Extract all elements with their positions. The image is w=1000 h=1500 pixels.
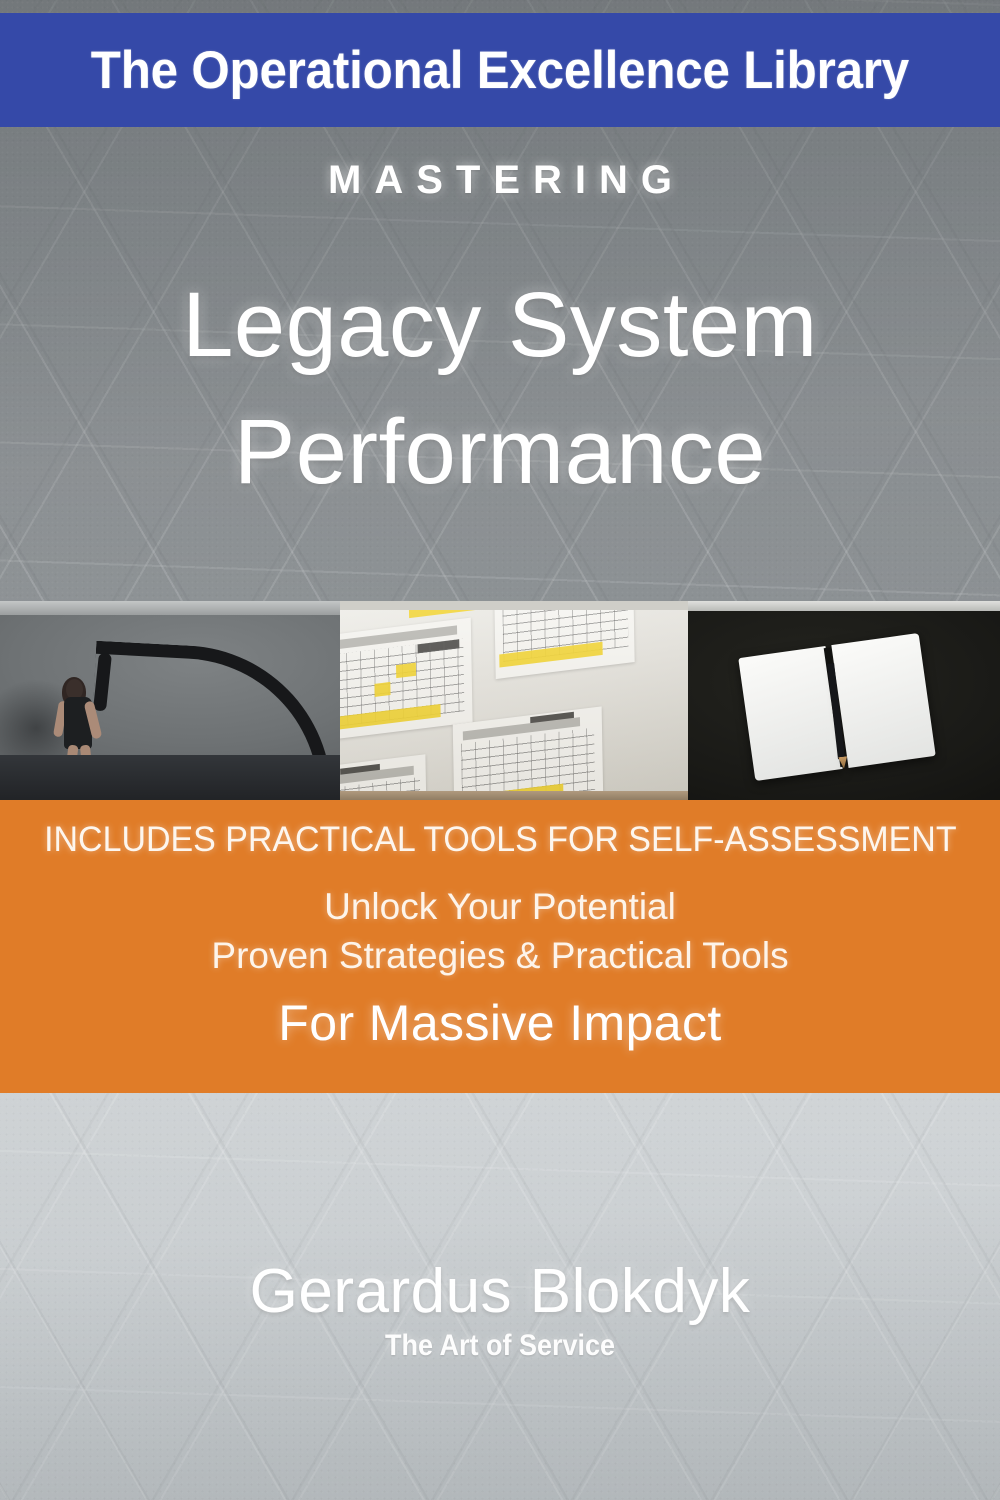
series-banner: The Operational Excellence Library [0, 13, 1000, 127]
publisher-name: The Art of Service [50, 1329, 950, 1363]
page-title: Legacy System Performance [0, 262, 1000, 516]
notebook-right-page [831, 633, 935, 768]
orange-callout-band: INCLUDES PRACTICAL TOOLS FOR SELF-ASSESS… [0, 800, 1000, 1093]
highlighted-schedule-sheets-photo [340, 601, 688, 801]
battle-rope-workout-photo [0, 601, 340, 801]
desk-back-edge [688, 601, 1000, 611]
cover-subtitle: Unlock Your Potential Proven Strategies … [211, 882, 788, 980]
open-notebook-pencil-photo [688, 601, 1000, 801]
self-assessment-callout: INCLUDES PRACTICAL TOOLS FOR SELF-ASSESS… [44, 820, 956, 860]
book-cover: The Operational Excellence Library MASTE… [0, 0, 1000, 1500]
title-line-2: Performance [0, 389, 1000, 516]
cover-kicker: MASTERING [0, 158, 1000, 203]
author-name: Gerardus Blokdyk [0, 1256, 1000, 1327]
gym-floor [0, 755, 340, 801]
photo-top-edge [340, 601, 688, 610]
impact-tagline: For Massive Impact [278, 994, 721, 1052]
subtitle-line-2: Proven Strategies & Practical Tools [211, 931, 788, 980]
photo-strip [0, 601, 1000, 801]
series-banner-title: The Operational Excellence Library [91, 40, 909, 101]
photo-color-tint [340, 601, 688, 801]
subtitle-line-1: Unlock Your Potential [211, 882, 788, 931]
author-block: Gerardus Blokdyk The Art of Service [0, 1256, 1000, 1363]
title-line-1: Legacy System [0, 262, 1000, 389]
gym-ceiling [0, 601, 340, 615]
open-notebook [738, 633, 935, 781]
